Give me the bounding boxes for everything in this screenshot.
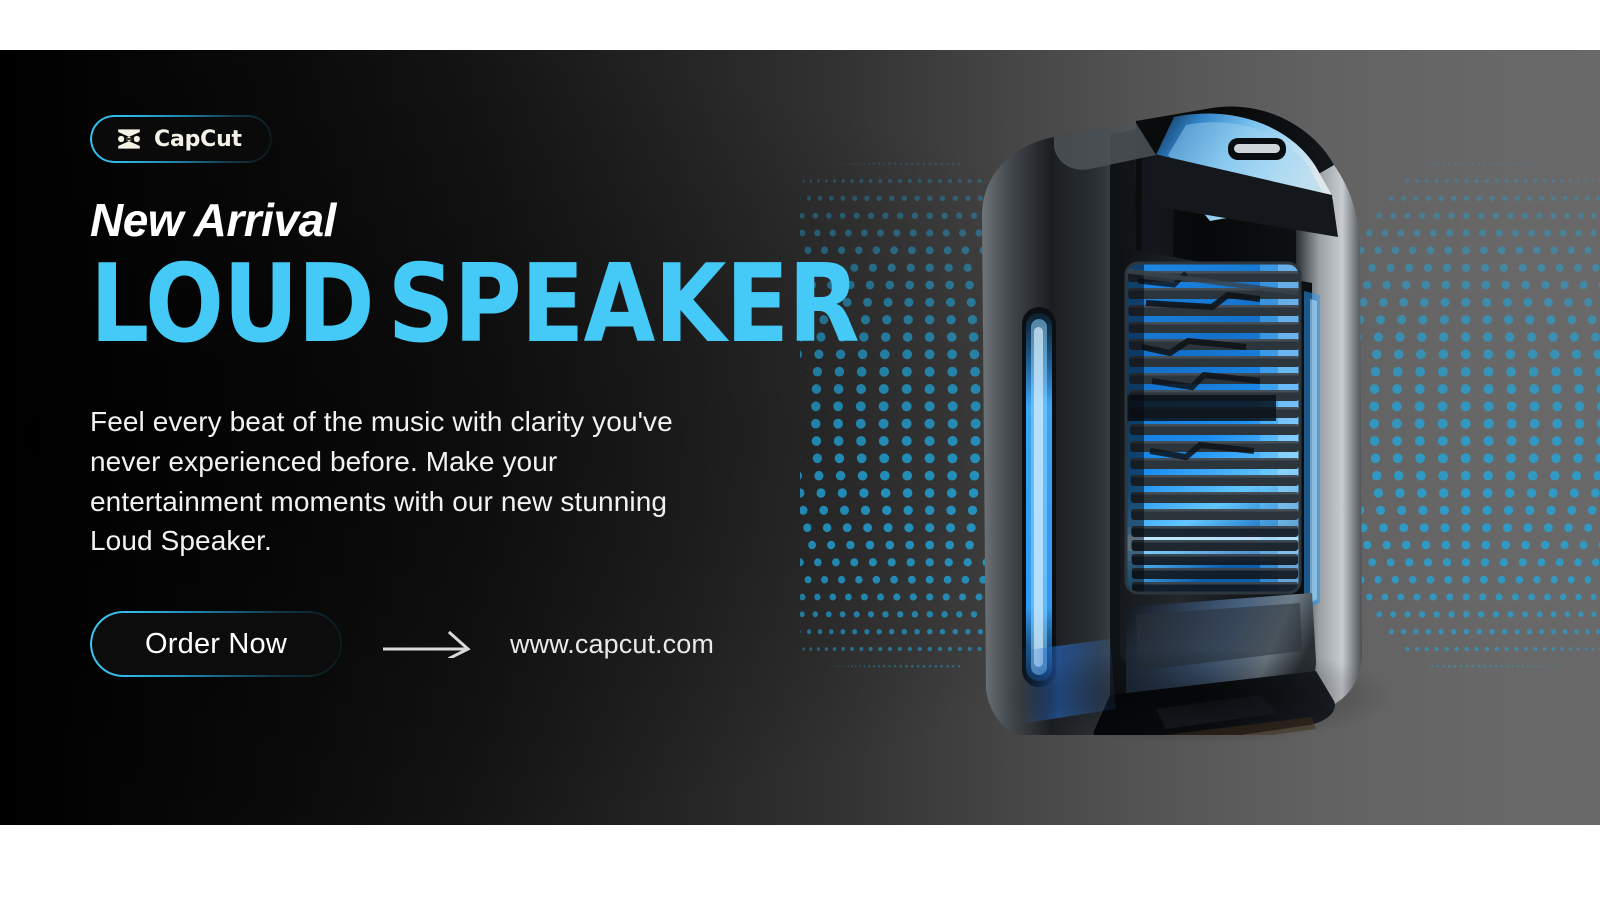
speaker-grille <box>1126 263 1304 593</box>
arrow-right-icon <box>382 630 474 658</box>
order-now-label: Order Now <box>145 628 287 661</box>
loud-speaker-product-image <box>960 95 1410 735</box>
capcut-logo-pill[interactable]: CapCut <box>90 115 272 163</box>
speaker-top-port <box>1228 138 1286 160</box>
capcut-logo-icon <box>116 128 142 150</box>
banner-content: CapCut New Arrival LOUDSPEAKER Feel ever… <box>90 115 770 677</box>
cta-row: Order Now www.capcut.com <box>90 611 770 677</box>
product-area <box>790 50 1600 825</box>
page-title: LOUDSPEAKER <box>90 257 675 352</box>
order-now-button[interactable]: Order Now <box>90 611 342 677</box>
banner-canvas: CapCut New Arrival LOUDSPEAKER Feel ever… <box>0 0 1600 900</box>
headline-word-2: SPEAKER <box>388 242 859 367</box>
eyebrow-text: New Arrival <box>90 197 770 243</box>
capcut-logo-text: CapCut <box>154 127 242 152</box>
promo-banner: CapCut New Arrival LOUDSPEAKER Feel ever… <box>0 50 1600 825</box>
speaker-body <box>982 107 1362 735</box>
headline-word-1: LOUD <box>90 242 374 367</box>
description-text: Feel every beat of the music with clarit… <box>90 402 730 561</box>
website-url[interactable]: www.capcut.com <box>510 629 714 660</box>
